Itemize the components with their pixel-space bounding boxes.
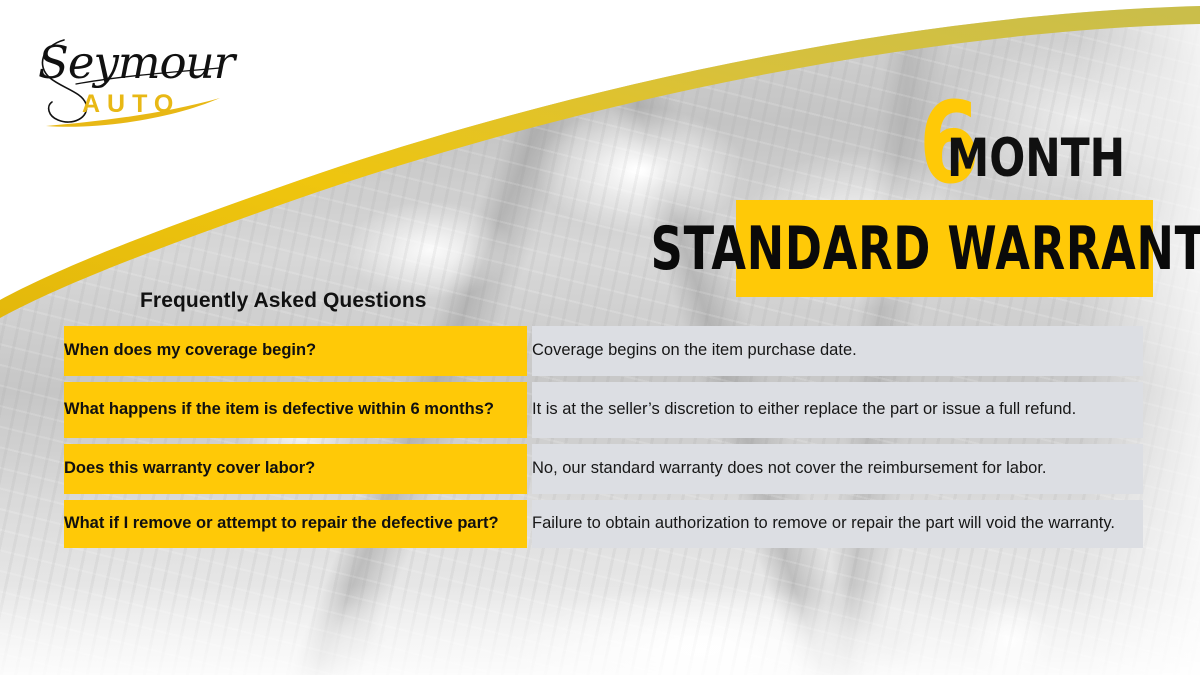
standard-warranty-title: STANDARD WARRANTY (650, 219, 1200, 279)
table-row: What if I remove or attempt to repair th… (64, 500, 1143, 548)
faq-question-text: What happens if the item is defective wi… (64, 399, 527, 421)
faq-answer-cell: No, our standard warranty does not cover… (532, 444, 1143, 494)
faq-answer-cell: Failure to obtain authorization to remov… (532, 500, 1143, 548)
faq-question-cell: What happens if the item is defective wi… (64, 382, 527, 438)
duration-unit: MONTH (947, 135, 1125, 183)
faq-question-cell: Does this warranty cover labor? (64, 444, 527, 494)
standard-warranty-banner: STANDARD WARRANTY (736, 200, 1153, 297)
faq-answer-text: Coverage begins on the item purchase dat… (532, 340, 1143, 362)
faq-question-cell: What if I remove or attempt to repair th… (64, 500, 527, 548)
faq-heading: Frequently Asked Questions (140, 289, 427, 313)
table-row: When does my coverage begin? Coverage be… (64, 326, 1143, 376)
table-row: What happens if the item is defective wi… (64, 382, 1143, 438)
faq-table-body: When does my coverage begin? Coverage be… (64, 326, 1143, 548)
faq-answer-cell: It is at the seller’s discretion to eith… (532, 382, 1143, 438)
warranty-duration: 6 MONTH (915, 72, 1165, 192)
faq-question-text: What if I remove or attempt to repair th… (64, 513, 527, 535)
faq-answer-text: It is at the seller’s discretion to eith… (532, 399, 1143, 421)
faq-table: When does my coverage begin? Coverage be… (59, 320, 1148, 554)
brand-logo[interactable]: Seymour AUTO (24, 22, 239, 134)
faq-question-text: When does my coverage begin? (64, 340, 527, 362)
logo-script-name: Seymour (38, 36, 238, 89)
faq-question-text: Does this warranty cover labor? (64, 458, 527, 480)
table-row: Does this warranty cover labor? No, our … (64, 444, 1143, 494)
faq-answer-text: No, our standard warranty does not cover… (532, 458, 1143, 480)
faq-answer-text: Failure to obtain authorization to remov… (532, 513, 1143, 535)
faq-answer-cell: Coverage begins on the item purchase dat… (532, 326, 1143, 376)
faq-question-cell: When does my coverage begin? (64, 326, 527, 376)
warranty-slide: Seymour AUTO 6 MONTH STANDARD WARRANTY F… (0, 0, 1200, 675)
